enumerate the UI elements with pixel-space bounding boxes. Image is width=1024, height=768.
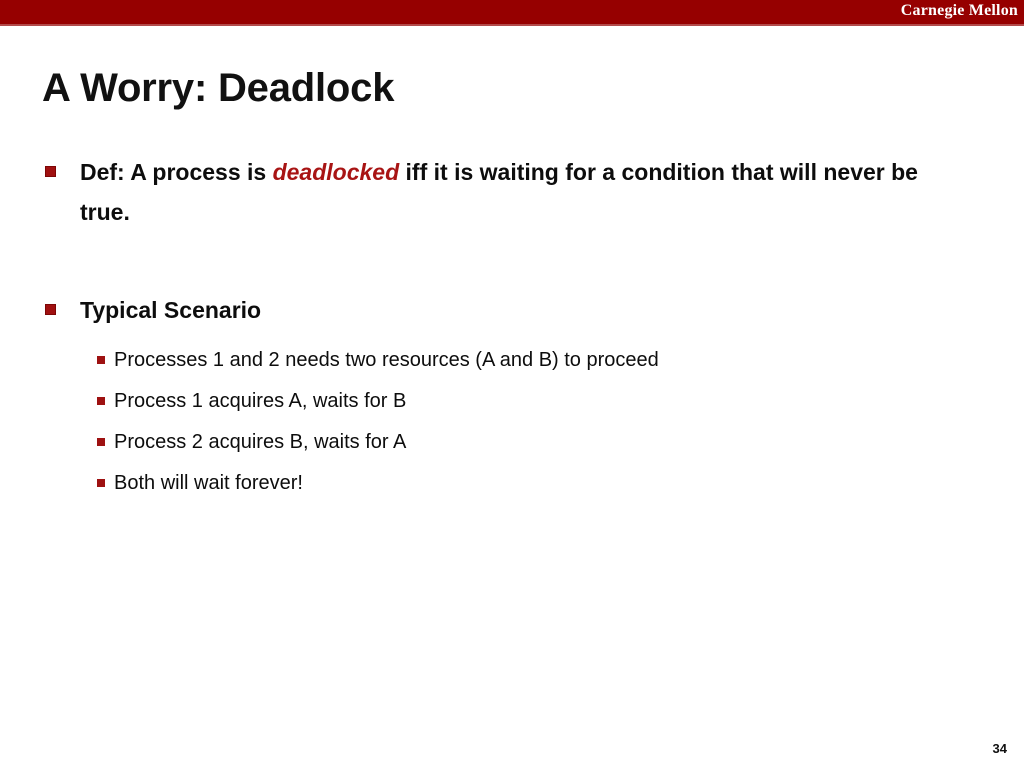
banner-divider (0, 24, 1024, 26)
bullet-definition: Def: A process is deadlocked iff it is w… (42, 152, 972, 232)
slide-number: 34 (993, 741, 1007, 756)
small-square-bullet-icon (97, 438, 105, 446)
bullet-scenario-heading: Typical Scenario (42, 290, 972, 330)
list-item: Process 1 acquires A, waits for B (42, 381, 972, 422)
square-bullet-icon (45, 166, 56, 177)
top-banner (0, 0, 1024, 24)
content-spacer (42, 232, 972, 290)
list-item: Process 2 acquires B, waits for A (42, 422, 972, 463)
scenario-list: Processes 1 and 2 needs two resources (A… (42, 340, 972, 504)
list-item: Processes 1 and 2 needs two resources (A… (42, 340, 972, 381)
list-item-label: Processes 1 and 2 needs two resources (A… (114, 349, 659, 371)
list-item: Both will wait forever! (42, 463, 972, 504)
definition-emphasis: deadlocked (273, 159, 400, 185)
list-item-label: Process 2 acquires B, waits for A (114, 431, 406, 453)
definition-lead: Def: A process is (80, 159, 266, 185)
list-item-label: Process 1 acquires A, waits for B (114, 390, 406, 412)
scenario-heading-label: Typical Scenario (80, 297, 261, 323)
small-square-bullet-icon (97, 479, 105, 487)
slide-body: Def: A process is deadlocked iff it is w… (42, 152, 972, 504)
small-square-bullet-icon (97, 397, 105, 405)
page-title: A Worry: Deadlock (42, 66, 394, 111)
square-bullet-icon (45, 304, 56, 315)
brand-label: Carnegie Mellon (901, 2, 1018, 20)
list-item-label: Both will wait forever! (114, 472, 303, 494)
small-square-bullet-icon (97, 356, 105, 364)
